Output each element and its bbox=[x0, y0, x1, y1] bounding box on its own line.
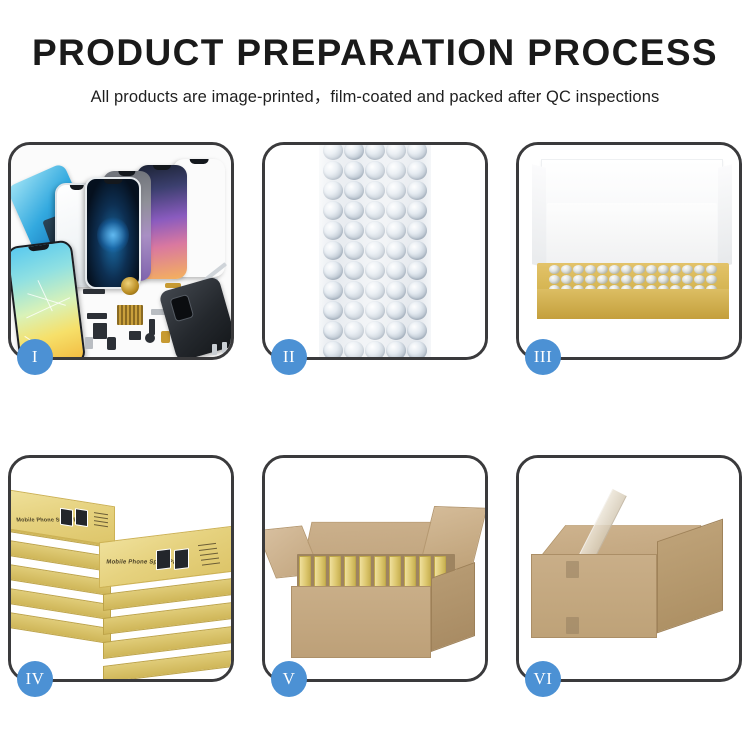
step-card-6[interactable]: VI bbox=[516, 455, 742, 682]
page-subtitle: All products are image-printed，film-coat… bbox=[0, 83, 750, 107]
page-title: PRODUCT PREPARATION PROCESS bbox=[0, 34, 750, 73]
retail-box-lid-top-left: Mobile Phone Spare Parts bbox=[11, 490, 115, 547]
step-card-4[interactable]: Mobile Phone Spare Parts Mobile Phone Sp… bbox=[8, 455, 234, 682]
inner-box-front-face bbox=[537, 289, 729, 319]
carton-front-face bbox=[291, 586, 431, 658]
inner-box-foam-sheet bbox=[547, 203, 717, 265]
retail-box-stack: Mobile Phone Spare Parts Mobile Phone Sp… bbox=[11, 476, 231, 676]
step-card-1[interactable]: I bbox=[8, 142, 234, 360]
screw-icon bbox=[212, 344, 217, 355]
step-badge-5: V bbox=[271, 661, 307, 697]
screw-icon bbox=[222, 342, 227, 353]
bubble-grid bbox=[323, 145, 427, 357]
step-card-3[interactable]: III bbox=[516, 142, 742, 360]
sealed-carton-front-face bbox=[531, 554, 657, 638]
phone-device-black-glass bbox=[85, 177, 141, 289]
step-badge-6: VI bbox=[525, 661, 561, 697]
step-card-5[interactable]: V bbox=[262, 455, 488, 682]
step-image-4: Mobile Phone Spare Parts Mobile Phone Sp… bbox=[11, 458, 231, 679]
step-image-5 bbox=[265, 458, 485, 679]
carton-right-side-face bbox=[431, 562, 475, 652]
process-step-grid: I I bbox=[8, 142, 742, 682]
step-image-1 bbox=[11, 145, 231, 357]
step-image-2 bbox=[265, 145, 485, 357]
page-header: PRODUCT PREPARATION PROCESS All products… bbox=[0, 0, 750, 107]
step-card-2[interactable]: II bbox=[262, 142, 488, 360]
carton-hand-hole bbox=[566, 561, 579, 578]
retail-box-lid-main: Mobile Phone Spare Parts bbox=[99, 526, 231, 588]
step-badge-2: II bbox=[271, 339, 307, 375]
step-badge-4: IV bbox=[17, 661, 53, 697]
carton-hand-hole bbox=[566, 617, 579, 634]
step-badge-3: III bbox=[525, 339, 561, 375]
step-image-6 bbox=[519, 458, 739, 679]
step-badge-1: I bbox=[17, 339, 53, 375]
step-image-3 bbox=[519, 145, 739, 357]
bubble-wrap-column bbox=[319, 145, 431, 357]
